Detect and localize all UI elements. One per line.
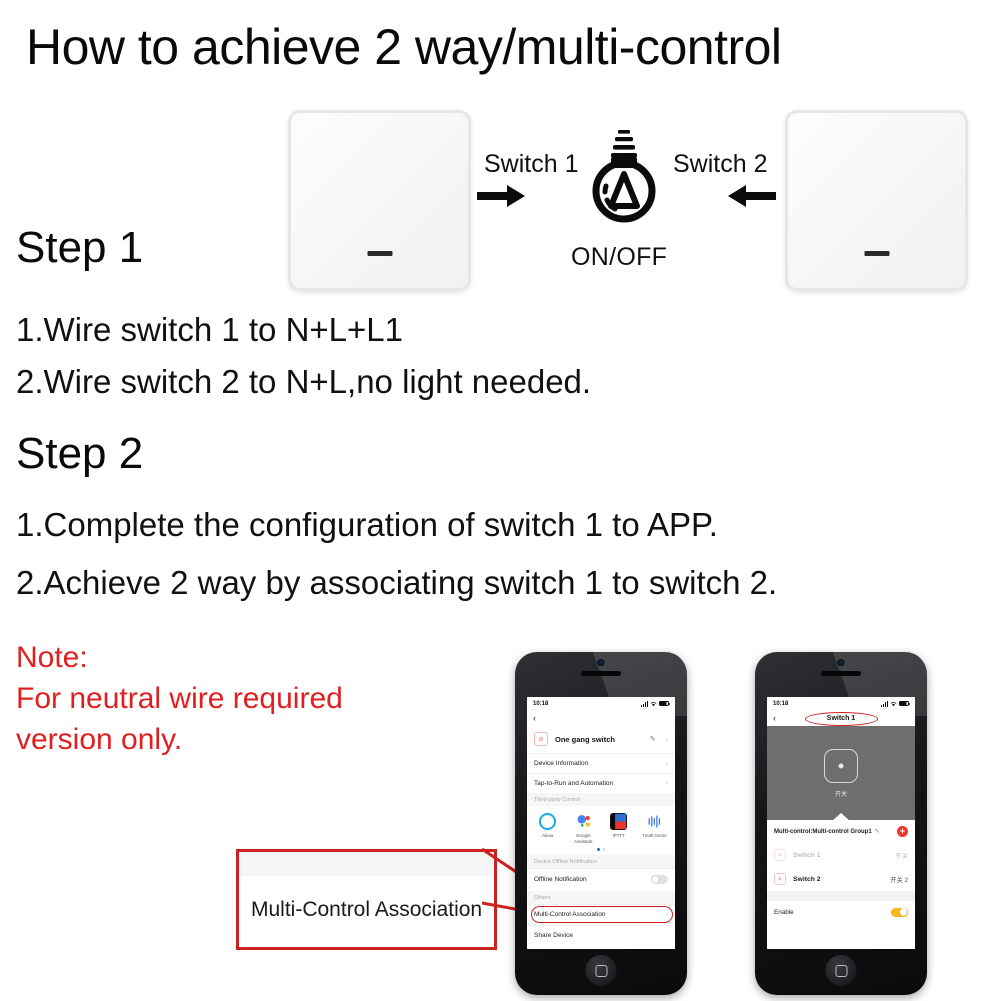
chevron-right-icon: › xyxy=(666,780,668,787)
third-party-item-ifttt[interactable]: IFTTT xyxy=(604,813,634,844)
phone-2-status-bar: 10:18 xyxy=(767,697,915,710)
signal-icon xyxy=(881,701,888,707)
switch-2-label: Switch 2 xyxy=(673,150,767,179)
note-line-2: For neutral wire required xyxy=(16,678,343,719)
wifi-icon xyxy=(650,701,657,707)
arrow-right-icon xyxy=(477,183,525,209)
note-line-3: version only. xyxy=(16,719,182,760)
offline-notification-toggle[interactable] xyxy=(651,875,668,884)
switch-icon xyxy=(774,873,786,885)
third-party-item-tmall[interactable]: Tmall Genie xyxy=(639,813,669,844)
row-share-device[interactable]: Share Device xyxy=(527,925,675,946)
device-hero-panel: 开关 xyxy=(767,726,915,820)
section-others: Others xyxy=(527,891,675,904)
multi-control-row-switch-1-name: Switch 1 xyxy=(793,852,888,859)
row-enable-label: Enable xyxy=(774,909,891,916)
add-button[interactable]: + xyxy=(897,826,908,837)
multi-control-row-switch-2-cn: 开关 2 xyxy=(890,875,908,884)
switch-panel-1-indicator xyxy=(367,251,392,256)
phone-mockup-1: 10:18 ‹ One gang switch ✎ › xyxy=(515,652,687,995)
section-device-offline-notification: Device Offline Notification xyxy=(527,855,675,868)
row-device-information[interactable]: Device Information › xyxy=(527,753,675,773)
phone-1-volume-up-button[interactable] xyxy=(515,738,516,754)
phone-1-status-time: 10:18 xyxy=(533,701,548,707)
callout-box: Multi-Control Association xyxy=(236,849,497,950)
switch-icon xyxy=(774,849,786,861)
note-heading: Note: xyxy=(16,637,88,678)
chevron-right-icon: › xyxy=(666,911,668,918)
onoff-label: ON/OFF xyxy=(571,243,667,272)
step-2-line-2: 2.Achieve 2 way by associating switch 1 … xyxy=(16,563,777,603)
row-tap-to-run-label: Tap-to-Run and Automation xyxy=(534,780,663,787)
pencil-icon[interactable]: ✎ xyxy=(650,735,656,743)
row-offline-notification-label: Offline Notification xyxy=(534,876,651,883)
pencil-icon[interactable]: ✎ xyxy=(875,828,897,835)
multi-control-row-switch-2-name: Switch 2 xyxy=(793,876,883,883)
row-share-device-label: Share Device xyxy=(534,932,668,939)
multi-control-row-switch-2[interactable]: Switch 2 开关 2 xyxy=(767,867,915,891)
third-party-grid: Alexa Google Assistant xyxy=(527,806,675,846)
phone-2-camera-icon xyxy=(838,659,845,666)
power-toggle-label: 开关 xyxy=(835,789,847,798)
carousel-dot-1[interactable] xyxy=(597,848,599,850)
phone-mockup-2: 10:18 ‹ Switch 1 开关 xyxy=(755,652,927,995)
callout-stripe xyxy=(239,852,494,876)
battery-icon xyxy=(659,701,669,706)
third-party-item-google[interactable]: Google Assistant xyxy=(568,813,598,844)
tmall-genie-icon xyxy=(646,813,663,830)
battery-icon xyxy=(899,701,909,706)
phone-2-status-time: 10:18 xyxy=(773,701,788,707)
phone-2-nav-bar: ‹ Switch 1 xyxy=(767,710,915,726)
alexa-icon xyxy=(539,813,556,830)
power-toggle-button[interactable] xyxy=(824,749,858,783)
google-assistant-icon xyxy=(575,813,592,830)
light-bulb-icon xyxy=(585,128,663,224)
hero-notch xyxy=(832,813,850,821)
phone-1-volume-down-button[interactable] xyxy=(515,760,516,776)
multi-control-title: Multi-control:Multi-control Group1 xyxy=(774,829,872,835)
chevron-right-icon: › xyxy=(666,760,668,767)
phone-1-camera-icon xyxy=(598,659,605,666)
row-multi-control-association[interactable]: Multi-Control Association › xyxy=(527,904,675,925)
phone-1-nav-bar: ‹ xyxy=(527,710,675,726)
row-tap-to-run[interactable]: Tap-to-Run and Automation › xyxy=(527,773,675,793)
step-2-line-1: 1.Complete the configuration of switch 1… xyxy=(16,505,718,545)
switch-panel-1 xyxy=(288,110,471,291)
row-offline-notification[interactable]: Offline Notification xyxy=(527,868,675,891)
device-icon xyxy=(534,732,548,746)
switch-panel-2-indicator xyxy=(864,251,889,256)
section-divider xyxy=(767,891,915,901)
back-button[interactable]: ‹ xyxy=(533,714,536,723)
switch-1-label: Switch 1 xyxy=(484,150,578,179)
row-multi-control-association-label: Multi-Control Association xyxy=(534,911,663,918)
multi-control-row-switch-1[interactable]: Switch 1 开关 xyxy=(767,843,915,867)
phone-2-volume-up-button[interactable] xyxy=(755,738,756,754)
phone-1-speaker xyxy=(581,671,621,676)
row-enable[interactable]: Enable xyxy=(767,901,915,923)
carousel-dot-2[interactable] xyxy=(603,848,605,850)
device-header-row[interactable]: One gang switch ✎ › xyxy=(527,726,675,753)
carousel-dots[interactable] xyxy=(527,846,675,854)
phone-1-status-bar: 10:18 xyxy=(527,697,675,710)
phone-1-screen: 10:18 ‹ One gang switch ✎ › xyxy=(527,697,675,949)
chevron-right-icon: › xyxy=(666,736,668,743)
device-name: One gang switch xyxy=(555,735,643,744)
infographic-page: How to achieve 2 way/multi-control Switc… xyxy=(0,0,1001,1001)
arrow-left-icon xyxy=(728,183,776,209)
signal-icon xyxy=(641,701,648,707)
phone-2-speaker xyxy=(821,671,861,676)
third-party-label-tmall: Tmall Genie xyxy=(639,833,669,839)
row-device-information-label: Device Information xyxy=(534,760,663,767)
step-1-line-1: 1.Wire switch 1 to N+L+L1 xyxy=(16,310,403,350)
phone-2-home-button[interactable] xyxy=(826,955,857,986)
step-2-heading: Step 2 xyxy=(16,428,143,480)
phone-1-status-icons xyxy=(641,701,669,707)
phone-2-volume-down-button[interactable] xyxy=(755,760,756,776)
section-third-party-control: Third-party Control xyxy=(527,793,675,806)
multi-control-row-switch-1-cn: 开关 xyxy=(895,851,908,860)
step-1-line-2: 2.Wire switch 2 to N+L,no light needed. xyxy=(16,362,591,402)
third-party-label-alexa: Alexa xyxy=(533,833,563,839)
callout-label: Multi-Control Association xyxy=(251,898,482,922)
wifi-icon xyxy=(890,701,897,707)
step-1-heading: Step 1 xyxy=(16,222,143,274)
phone-2-screen: 10:18 ‹ Switch 1 开关 xyxy=(767,697,915,949)
multi-control-header: Multi-control:Multi-control Group1 ✎ + xyxy=(767,820,915,843)
third-party-label-ifttt: IFTTT xyxy=(604,833,634,839)
third-party-label-google: Google Assistant xyxy=(568,833,598,844)
enable-toggle[interactable] xyxy=(891,908,908,917)
switch-1-highlight-ellipse xyxy=(805,712,878,726)
switch-panel-2 xyxy=(785,110,968,291)
page-title: How to achieve 2 way/multi-control xyxy=(26,18,782,76)
third-party-item-alexa[interactable]: Alexa xyxy=(533,813,563,844)
phone-1-home-button[interactable] xyxy=(586,955,617,986)
ifttt-icon xyxy=(610,813,627,830)
phone-2-status-icons xyxy=(881,701,909,707)
